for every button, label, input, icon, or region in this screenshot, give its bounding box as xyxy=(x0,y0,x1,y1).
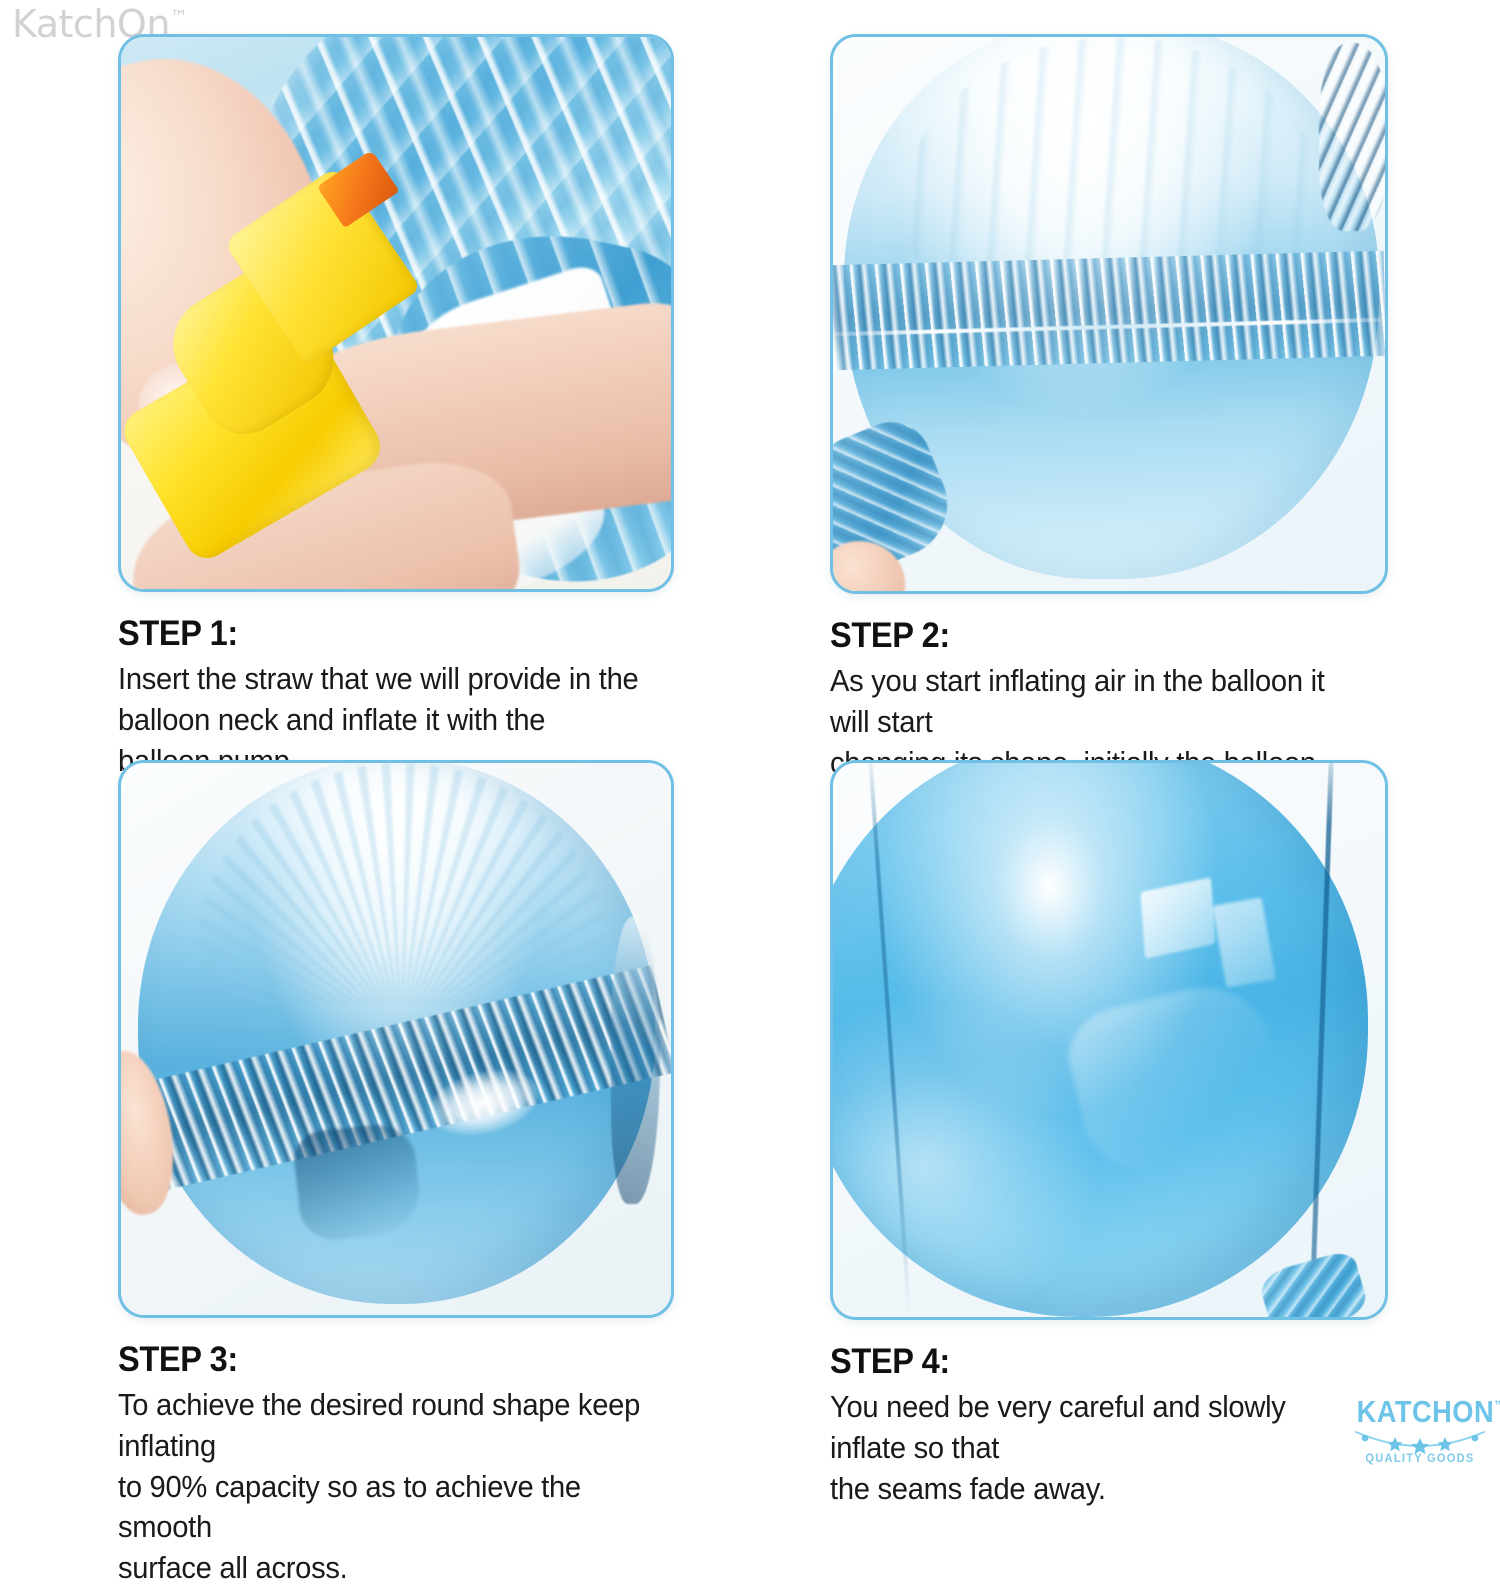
step-card-4: STEP 4: You need be very careful and slo… xyxy=(830,760,1388,1509)
step-3-photo-inner xyxy=(121,763,671,1315)
brand-logo-tagline: QUALITY GOODS xyxy=(1354,1451,1486,1465)
step-4-photo-inner xyxy=(833,763,1385,1317)
step-3-title: STEP 3: xyxy=(118,1340,635,1379)
brand-logo-wordmark: KATCHON™ xyxy=(1357,1396,1484,1427)
step-card-1: STEP 1: Insert the straw that we will pr… xyxy=(118,34,674,781)
step-card-3: STEP 3: To achieve the desired round sha… xyxy=(118,760,674,1589)
brand-logo-bottom: KATCHON™ QUALITY GOODS xyxy=(1348,1396,1492,1488)
step-4-body: You need be very careful and slowly infl… xyxy=(830,1387,1355,1510)
brand-logo-name: KATCHON xyxy=(1357,1394,1494,1429)
balloon-right-rim xyxy=(611,917,661,1204)
step-1-title: STEP 1: xyxy=(118,614,635,653)
step-4-photo xyxy=(830,760,1388,1320)
balloon-horizontal-seam xyxy=(833,251,1385,371)
step-2-photo-inner xyxy=(833,37,1385,591)
step-1-caption: STEP 1: Insert the straw that we will pr… xyxy=(118,614,674,782)
step-4-title: STEP 4: xyxy=(830,1342,1349,1381)
balloon-edge-crinkle xyxy=(1319,43,1385,231)
step-3-caption: STEP 3: To achieve the desired round sha… xyxy=(118,1340,674,1589)
step-1-photo-inner xyxy=(121,37,671,589)
step-4-caption: STEP 4: You need be very careful and slo… xyxy=(830,1342,1388,1510)
step-2-photo xyxy=(830,34,1388,594)
step-3-body: To achieve the desired round shape keep … xyxy=(118,1385,641,1589)
step-1-photo xyxy=(118,34,674,592)
step-3-photo xyxy=(118,760,674,1318)
step-2-title: STEP 2: xyxy=(830,616,1349,655)
steps-grid: STEP 1: Insert the straw that we will pr… xyxy=(0,0,1500,1494)
trademark-symbol: ™ xyxy=(1494,1398,1500,1412)
